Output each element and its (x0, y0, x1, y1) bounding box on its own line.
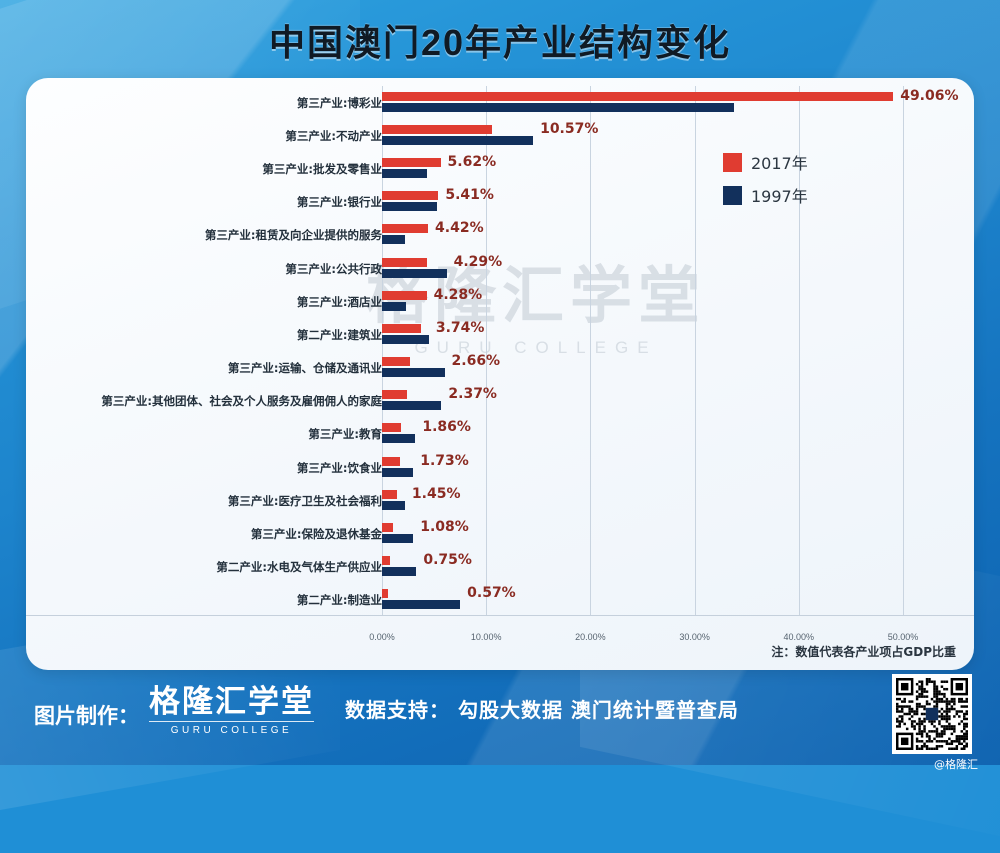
bar-value-label: 1.45% (412, 486, 461, 502)
category-label: 第三产业:租赁及向企业提供的服务 (205, 227, 382, 243)
bar-value-label: 4.42% (435, 220, 484, 236)
bar-2017 (382, 490, 397, 499)
bar-row: 第三产业:保险及退休基金1.08% (26, 517, 974, 550)
bar-value-label: 0.57% (467, 585, 516, 601)
bar-2017 (382, 556, 390, 565)
footer-data-support: 数据支持： 勾股大数据 澳门统计暨普查局 (345, 694, 739, 723)
bar-value-label: 5.62% (448, 154, 497, 170)
bar-2017 (382, 324, 421, 333)
bar-row: 第三产业:医疗卫生及社会福利1.45% (26, 484, 974, 517)
category-label: 第三产业:医疗卫生及社会福利 (228, 493, 382, 509)
bar-1997 (382, 235, 405, 244)
category-label: 第三产业:保险及退休基金 (251, 526, 382, 542)
bar-row: 第三产业:批发及零售业5.62% (26, 152, 974, 185)
bar-pair: 10.57% (382, 125, 962, 147)
bar-row: 第三产业:教育1.86% (26, 418, 974, 451)
bar-2017 (382, 125, 492, 134)
x-tick-label: 30.00% (679, 632, 710, 642)
footer: 图片制作： 格隆汇学堂 GURU COLLEGE 数据支持： 勾股大数据 澳门统… (0, 670, 1000, 765)
bar-value-label: 1.73% (420, 453, 469, 469)
bar-value-label: 2.66% (452, 353, 501, 369)
bar-1997 (382, 534, 413, 543)
bar-rows: 第三产业:博彩业49.06%第三产业:不动产业10.57%第三产业:批发及零售业… (26, 86, 974, 617)
bar-pair: 4.28% (382, 291, 962, 313)
bar-pair: 2.37% (382, 390, 962, 412)
category-label: 第三产业:运输、仓储及通讯业 (228, 360, 382, 376)
bar-row: 第三产业:博彩业49.06% (26, 86, 974, 119)
bar-value-label: 2.37% (448, 386, 497, 402)
x-tick-label: 50.00% (888, 632, 919, 642)
bar-1997 (382, 169, 427, 178)
category-label: 第二产业:水电及气体生产供应业 (216, 559, 382, 575)
bar-value-label: 3.74% (436, 320, 485, 336)
x-tick-label: 20.00% (575, 632, 606, 642)
bar-2017 (382, 158, 441, 167)
bar-1997 (382, 434, 415, 443)
bar-row: 第三产业:银行业5.41% (26, 186, 974, 219)
bar-value-label: 10.57% (540, 121, 598, 137)
chart-card: 格隆汇学堂 GURU COLLEGE 0.00%10.00%20.00%30.0… (26, 78, 974, 670)
page-title: 中国澳门20年产业结构变化 (0, 14, 1000, 66)
bar-value-label: 1.86% (422, 419, 471, 435)
x-tick-label: 10.00% (471, 632, 502, 642)
bar-pair: 49.06% (382, 92, 962, 114)
bar-1997 (382, 302, 406, 311)
bar-pair: 0.75% (382, 556, 962, 578)
bar-2017 (382, 357, 410, 366)
bar-1997 (382, 401, 441, 410)
bar-pair: 1.73% (382, 457, 962, 479)
legend-label-1997: 1997年 (751, 183, 808, 207)
bar-pair: 5.62% (382, 158, 962, 180)
bar-value-label: 1.08% (420, 519, 469, 535)
legend-item-1997: 1997年 (723, 183, 808, 207)
qr-caption: @格隆汇 (892, 756, 978, 772)
bar-pair: 0.57% (382, 589, 962, 611)
legend-swatch-2017-icon (723, 153, 742, 172)
category-label: 第二产业:建筑业 (297, 327, 382, 343)
brand-logo: 格隆汇学堂 GURU COLLEGE (149, 686, 314, 736)
bar-row: 第三产业:不动产业10.57% (26, 119, 974, 152)
legend-label-2017: 2017年 (751, 150, 808, 174)
bar-1997 (382, 600, 460, 609)
bar-pair: 4.29% (382, 258, 962, 280)
category-label: 第三产业:公共行政 (285, 261, 382, 277)
qr-code-icon[interactable] (892, 674, 972, 754)
bar-1997 (382, 501, 405, 510)
brand-name-en: GURU COLLEGE (149, 721, 314, 736)
bar-pair: 3.74% (382, 324, 962, 346)
bar-row: 第二产业:建筑业3.74% (26, 318, 974, 351)
category-label: 第三产业:银行业 (297, 194, 382, 210)
bar-row: 第二产业:制造业0.57% (26, 584, 974, 617)
bar-2017 (382, 224, 428, 233)
x-tick-label: 0.00% (369, 632, 395, 642)
category-label: 第三产业:酒店业 (297, 294, 382, 310)
bar-row: 第三产业:酒店业4.28% (26, 285, 974, 318)
bar-1997 (382, 567, 416, 576)
bar-row: 第三产业:公共行政4.29% (26, 252, 974, 285)
bar-value-label: 4.29% (454, 254, 503, 270)
bar-row: 第三产业:其他团体、社会及个人服务及雇佣佣人的家庭2.37% (26, 385, 974, 418)
bar-1997 (382, 202, 437, 211)
bar-pair: 1.45% (382, 490, 962, 512)
bar-2017 (382, 523, 393, 532)
bar-2017 (382, 258, 427, 267)
bar-row: 第三产业:饮食业1.73% (26, 451, 974, 484)
bar-2017 (382, 589, 388, 598)
bar-value-label: 49.06% (900, 88, 958, 104)
bar-2017 (382, 291, 427, 300)
bar-value-label: 5.41% (445, 187, 494, 203)
bar-2017 (382, 423, 401, 432)
category-label: 第三产业:博彩业 (297, 95, 382, 111)
bar-chart-plot: 0.00%10.00%20.00%30.00%40.00%50.00% 第三产业… (26, 78, 974, 670)
footer-produced-by-label: 图片制作： (34, 700, 139, 736)
bar-1997 (382, 335, 429, 344)
bar-1997 (382, 103, 734, 112)
bar-2017 (382, 92, 893, 101)
x-tick-label: 40.00% (784, 632, 815, 642)
chart-legend: 2017年 1997年 (723, 150, 808, 216)
bar-pair: 4.42% (382, 224, 962, 246)
bar-row: 第三产业:运输、仓储及通讯业2.66% (26, 352, 974, 385)
bar-row: 第二产业:水电及气体生产供应业0.75% (26, 551, 974, 584)
bar-1997 (382, 468, 413, 477)
bar-1997 (382, 136, 533, 145)
bar-row: 第三产业:租赁及向企业提供的服务4.42% (26, 219, 974, 252)
bar-pair: 1.08% (382, 523, 962, 545)
bar-pair: 2.66% (382, 357, 962, 379)
legend-item-2017: 2017年 (723, 150, 808, 174)
bar-pair: 5.41% (382, 191, 962, 213)
category-label: 第二产业:制造业 (297, 592, 382, 608)
bar-1997 (382, 368, 445, 377)
brand-name-cn: 格隆汇学堂 (149, 686, 314, 719)
bar-1997 (382, 269, 447, 278)
bar-2017 (382, 191, 438, 200)
footer-credit: 图片制作： 格隆汇学堂 GURU COLLEGE (34, 686, 314, 736)
legend-swatch-1997-icon (723, 186, 742, 205)
category-label: 第三产业:不动产业 (285, 128, 382, 144)
bar-2017 (382, 390, 407, 399)
category-label: 第三产业:其他团体、社会及个人服务及雇佣佣人的家庭 (101, 393, 382, 409)
bar-value-label: 0.75% (423, 552, 472, 568)
category-label: 第三产业:饮食业 (297, 460, 382, 476)
bar-2017 (382, 457, 400, 466)
category-label: 第三产业:批发及零售业 (262, 161, 382, 177)
bar-value-label: 4.28% (434, 287, 483, 303)
qr-code-block: @格隆汇 (892, 674, 978, 772)
category-label: 第三产业:教育 (308, 426, 382, 442)
chart-note: 注：数值代表各产业项占GDP比重 (771, 643, 956, 660)
bar-pair: 1.86% (382, 423, 962, 445)
